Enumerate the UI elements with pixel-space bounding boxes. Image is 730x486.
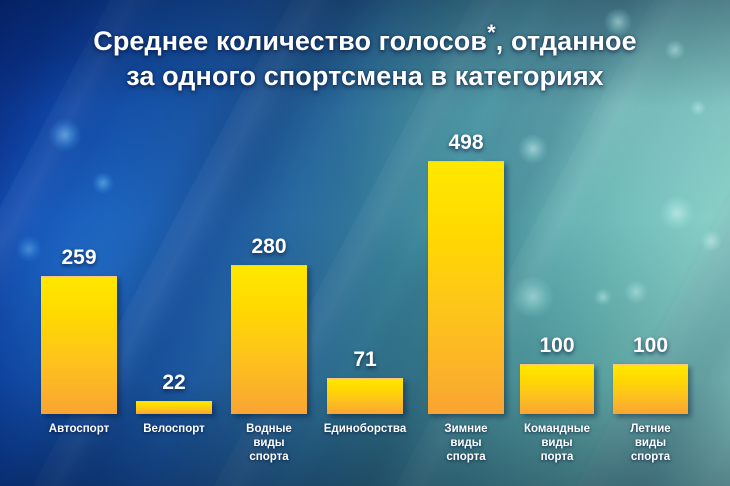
bar-value-label: 100 bbox=[520, 334, 594, 358]
bar-category-label: Велоспорт bbox=[122, 422, 226, 436]
bar-group-0: 259 Автоспорт bbox=[41, 276, 117, 414]
bar-category-label-line: Водные bbox=[217, 422, 321, 436]
bar-vodnye-vidy-sporta: 280 bbox=[231, 265, 307, 414]
bar-category-label-line: виды bbox=[414, 436, 518, 450]
bar-category-label-line: виды bbox=[599, 436, 702, 450]
bar-komandnye-vidy-sporta: 100 bbox=[520, 364, 594, 414]
bar-avtosport: 259 bbox=[41, 276, 117, 414]
bar-category-label-line: спорта bbox=[414, 450, 518, 464]
bar-edinoborstva: 71 bbox=[327, 378, 403, 414]
bar-category-label: Водные виды спорта bbox=[217, 422, 321, 464]
bar-group-4: 498 Зимние виды спорта bbox=[428, 161, 504, 414]
bar-category-label-line: Летние bbox=[599, 422, 702, 436]
chart-title-line-1: Среднее количество голосов*, отданное bbox=[28, 24, 702, 59]
bar-zimnie-vidy-sporta: 498 bbox=[428, 161, 504, 414]
bar-value-label: 22 bbox=[136, 371, 212, 395]
bar-letnie-vidy-sporta: 100 bbox=[613, 364, 688, 414]
chart-title-line-2: за одного спортсмена в категориях bbox=[28, 59, 702, 94]
bar-category-label-line: Командные bbox=[506, 422, 608, 436]
bar-velosport: 22 bbox=[136, 401, 212, 414]
bar-category-label: Зимние виды спорта bbox=[414, 422, 518, 464]
bar-category-label-line: виды bbox=[217, 436, 321, 450]
bar-category-label: Командные виды порта bbox=[506, 422, 608, 464]
bar-category-label: Автоспорт bbox=[27, 422, 131, 436]
bar-value-label: 498 bbox=[428, 131, 504, 155]
bar-value-label: 259 bbox=[41, 246, 117, 270]
infographic-chart: Среднее количество голосов*, отданное за… bbox=[0, 0, 730, 486]
bar-group-3: 71 Единоборства bbox=[327, 378, 403, 414]
bar-value-label: 71 bbox=[327, 348, 403, 372]
bar-category-label-line: виды bbox=[506, 436, 608, 450]
bar-category-label-line: порта bbox=[506, 450, 608, 464]
bar-category-label-line: спорта bbox=[599, 450, 702, 464]
bar-category-label-line: Автоспорт bbox=[27, 422, 131, 436]
bar-category-label: Летние виды спорта bbox=[599, 422, 702, 464]
bar-value-label: 100 bbox=[613, 334, 688, 358]
bar-value-label: 280 bbox=[231, 235, 307, 259]
chart-title: Среднее количество голосов*, отданное за… bbox=[0, 24, 730, 94]
bar-group-6: 100 Летние виды спорта bbox=[613, 364, 688, 414]
bar-category-label-line: Зимние bbox=[414, 422, 518, 436]
bar-category-label: Единоборства bbox=[313, 422, 417, 436]
bar-category-label-line: Велоспорт bbox=[122, 422, 226, 436]
bar-group-1: 22 Велоспорт bbox=[136, 401, 212, 414]
bar-group-2: 280 Водные виды спорта bbox=[231, 265, 307, 414]
bar-category-label-line: спорта bbox=[217, 450, 321, 464]
bar-group-5: 100 Командные виды порта bbox=[520, 364, 594, 414]
bar-category-label-line: Единоборства bbox=[313, 422, 417, 436]
title-footnote-marker: * bbox=[487, 20, 496, 45]
